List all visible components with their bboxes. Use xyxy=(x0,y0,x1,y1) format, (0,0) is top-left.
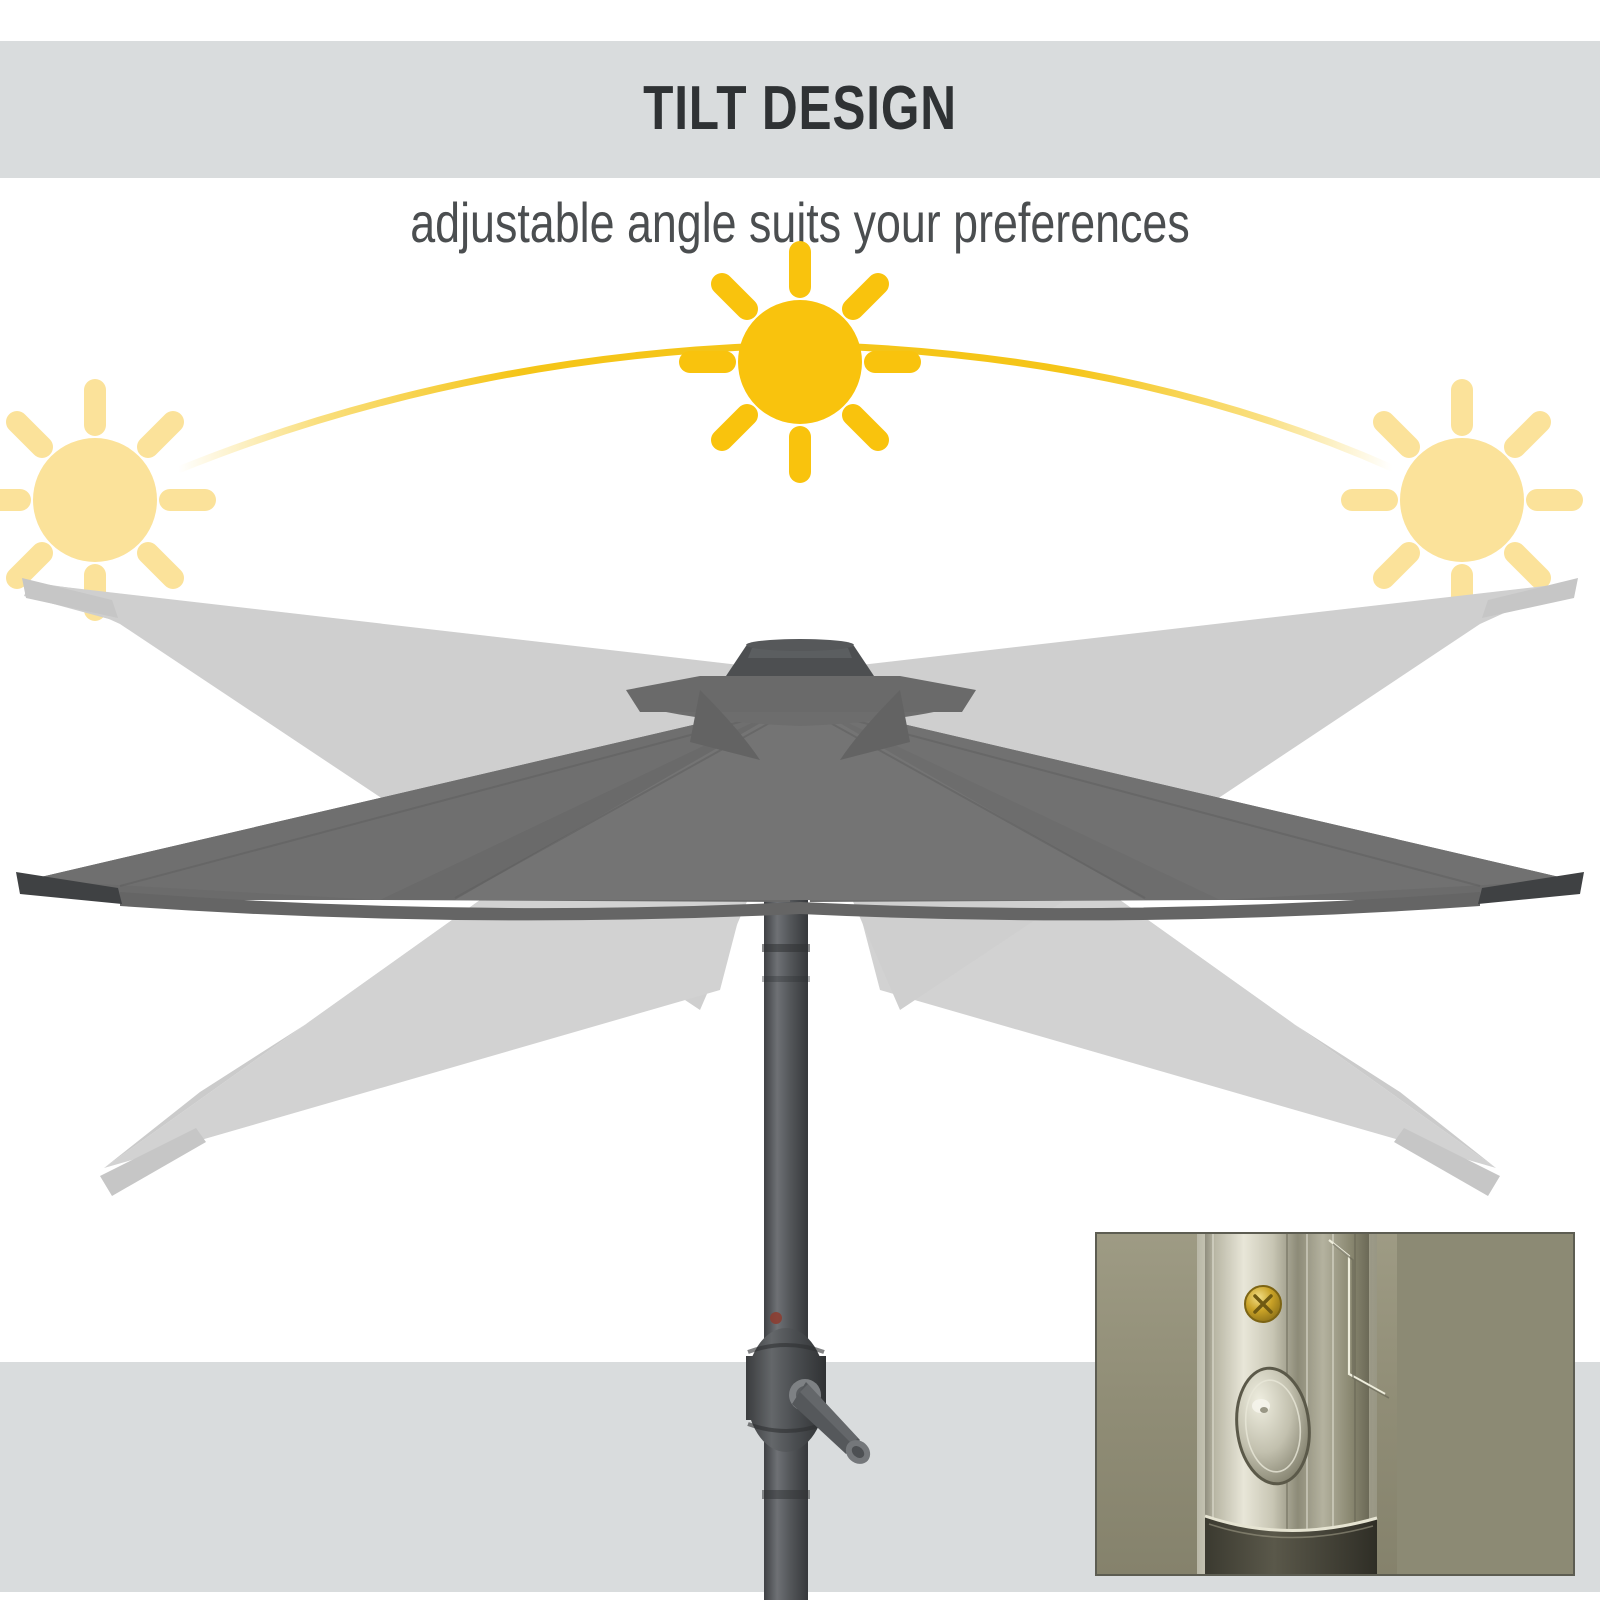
umbrella-canopy xyxy=(28,700,1572,920)
screw-icon xyxy=(1245,1286,1281,1322)
tilt-mechanism-closeup-graphic xyxy=(1097,1234,1573,1574)
marketing-image-canvas: TILT DESIGN adjustable angle suits your … xyxy=(0,0,1600,1600)
sun-right-icon xyxy=(1352,390,1572,610)
sun-center-icon xyxy=(690,252,910,472)
tilt-mechanism-closeup-inset xyxy=(1095,1232,1575,1576)
sun-left-icon xyxy=(0,390,205,610)
